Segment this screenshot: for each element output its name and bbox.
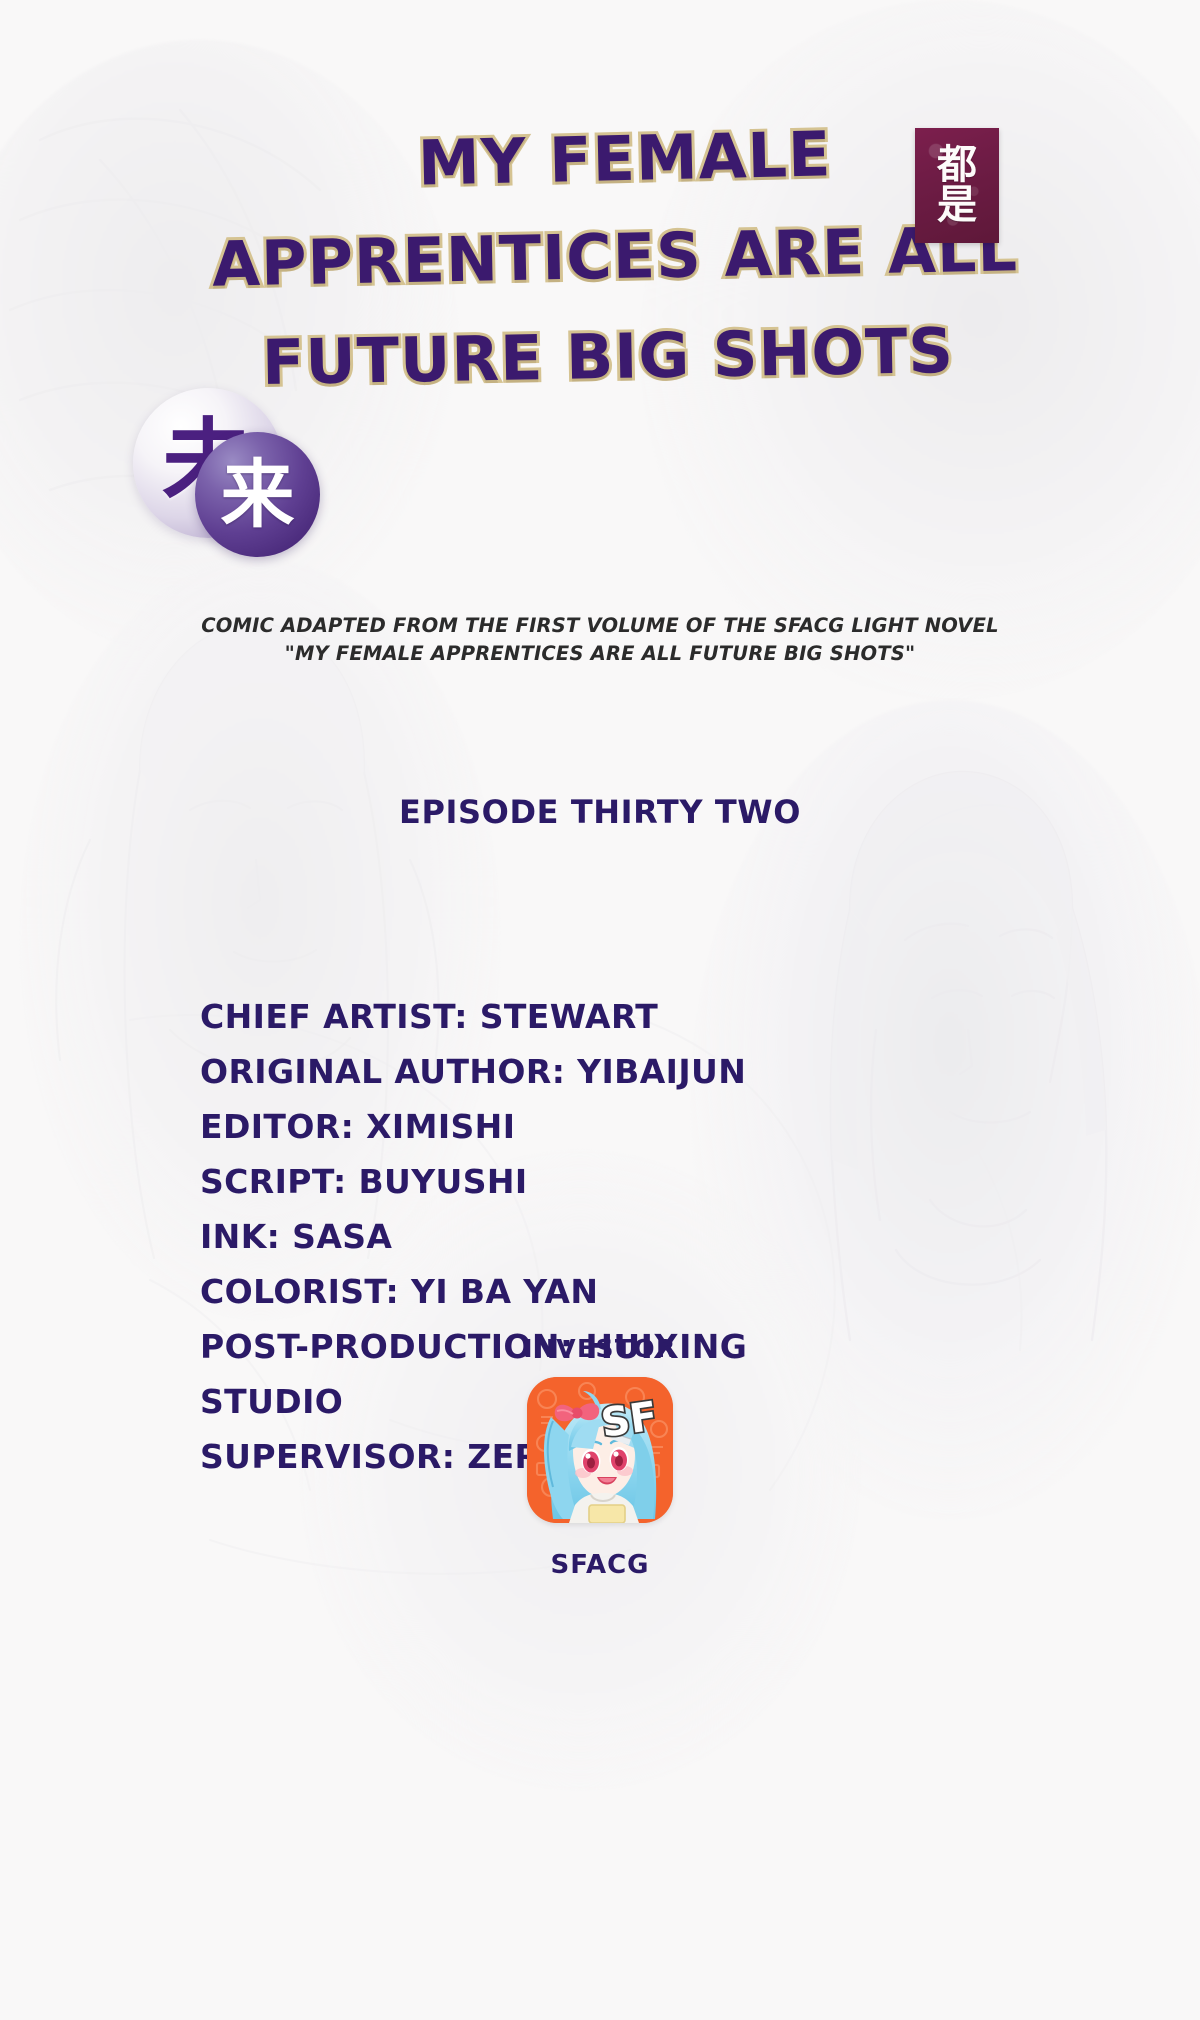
seal-char-1: 都 (937, 146, 977, 185)
comic-title-page: MY FEMALE APPRENTICES ARE ALL FUTURE BIG… (0, 0, 1200, 2020)
credit-line: INK: SASA (200, 1220, 1000, 1253)
subtitle-line-2: "MY FEMALE APPRENTICES ARE ALL FUTURE BI… (0, 640, 1200, 668)
credit-line: CHIEF ARTIST: STEWART (200, 1000, 1000, 1033)
credit-line: COLORIST: YI BA YAN (200, 1275, 1000, 1308)
brand-label: SFACG (0, 1550, 1200, 1580)
sfacg-app-icon[interactable]: SF (527, 1377, 673, 1523)
seal-char-2: 是 (937, 186, 977, 225)
credit-line: ORIGINAL AUTHOR: YIBAIJUN (200, 1055, 1000, 1088)
credit-line: SCRIPT: BUYUSHI (200, 1165, 1000, 1198)
sphere-dark-icon: 来 (195, 432, 320, 557)
subtitle-line-1: COMIC ADAPTED FROM THE FIRST VOLUME OF T… (0, 612, 1200, 640)
title-line-2: APPRENTICES ARE ALL (211, 212, 1018, 300)
subtitle-block: COMIC ADAPTED FROM THE FIRST VOLUME OF T… (0, 612, 1200, 667)
episode-title: EPISODE THIRTY TWO (0, 793, 1200, 831)
title-line-1: MY FEMALE (417, 117, 832, 199)
seal-stamp-icon: 都 是 (915, 128, 999, 243)
title-block: MY FEMALE APPRENTICES ARE ALL FUTURE BIG… (0, 112, 1200, 402)
sphere-right-char: 来 (221, 458, 295, 532)
title-line-3: FUTURE BIG SHOTS (261, 314, 954, 399)
svg-text:SF: SF (598, 1393, 660, 1446)
investor-label: INVESTOR (0, 1334, 1200, 1363)
sfacg-mascot-icon: SF (527, 1377, 673, 1523)
credit-line: EDITOR: XIMISHI (200, 1110, 1000, 1143)
